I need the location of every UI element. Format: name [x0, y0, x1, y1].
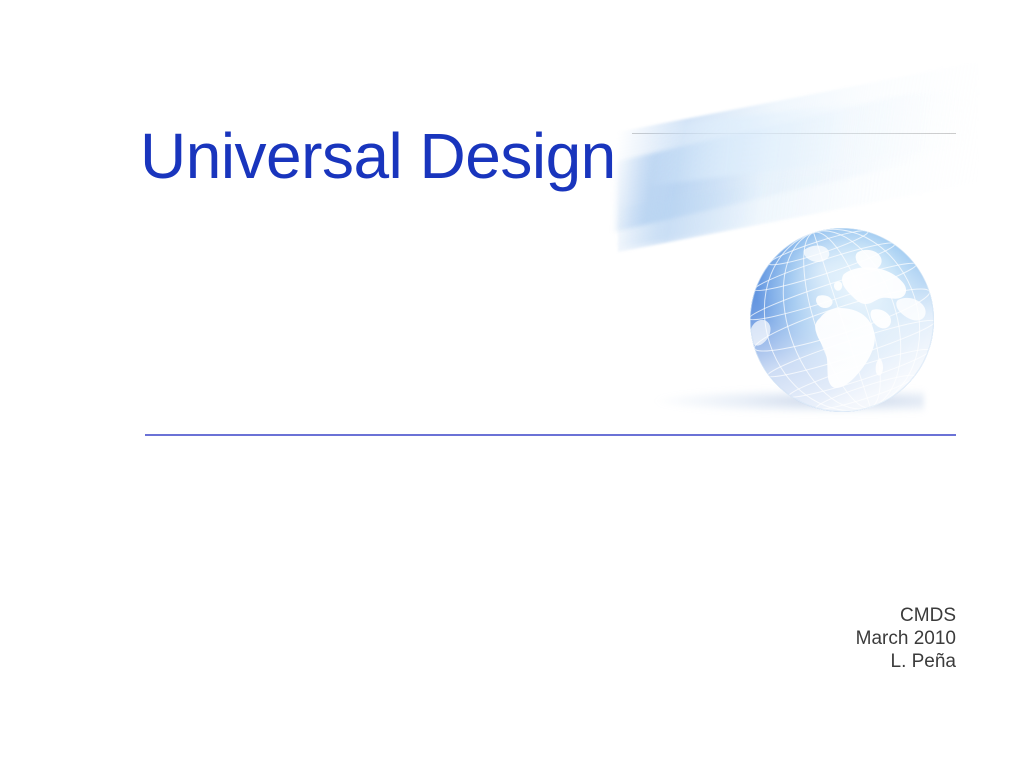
slide-footer: CMDS March 2010 L. Peña — [856, 604, 956, 673]
globe-illustration — [628, 134, 960, 419]
footer-author: L. Peña — [856, 650, 956, 673]
globe-svg — [748, 226, 936, 414]
light-swoosh-band-3 — [648, 89, 968, 186]
footer-organization: CMDS — [856, 604, 956, 627]
slide-title: Universal Design — [140, 118, 616, 194]
light-swoosh-band-1 — [618, 62, 978, 252]
bottom-divider-rule — [145, 434, 956, 436]
light-swoosh-band-2 — [614, 86, 944, 232]
presentation-slide: Universal Design — [0, 0, 1024, 768]
globe-sphere — [748, 226, 936, 414]
footer-date: March 2010 — [856, 627, 956, 650]
